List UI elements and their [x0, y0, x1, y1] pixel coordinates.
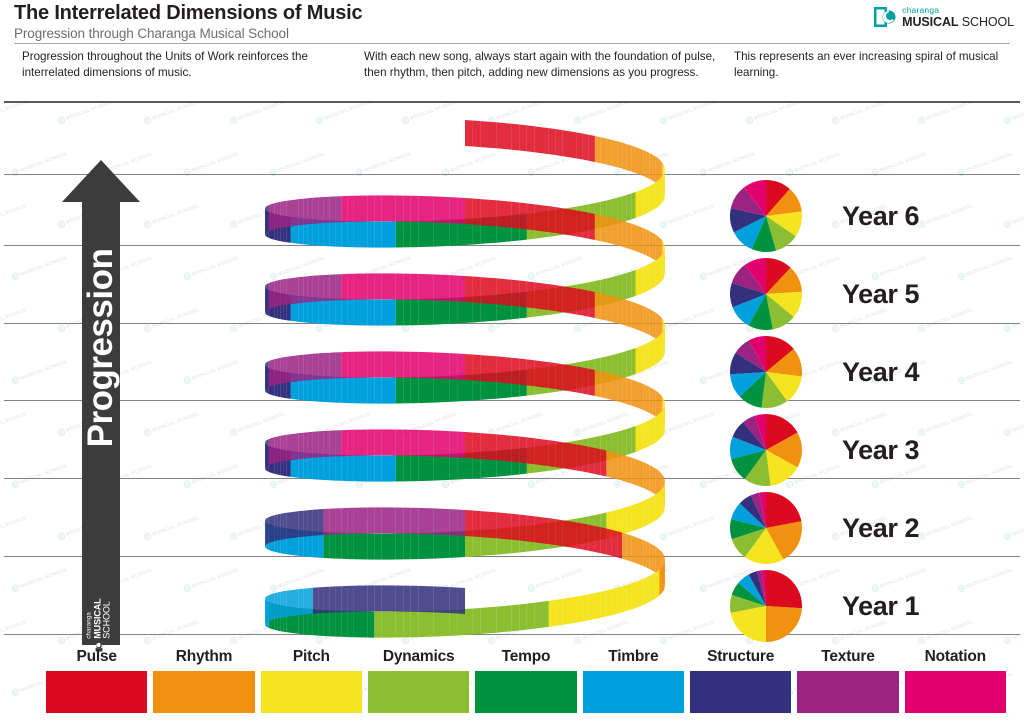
legend-item-dynamics[interactable]: Dynamics — [368, 648, 469, 713]
legend-item-timbre[interactable]: Timbre — [583, 648, 684, 713]
year-row: Year 4 — [730, 336, 919, 408]
legend-swatch — [690, 671, 791, 713]
legend-swatch — [583, 671, 684, 713]
year-row: Year 1 — [730, 570, 919, 642]
year-label: Year 6 — [842, 201, 919, 232]
logo-charanga-text: charanga — [902, 6, 1014, 15]
charanga-c-icon — [872, 6, 898, 28]
legend-item-pulse[interactable]: Pulse — [46, 648, 147, 713]
year-label: Year 5 — [842, 279, 919, 310]
year-pie-chart — [730, 258, 802, 330]
year-row: Year 5 — [730, 258, 919, 330]
year-row: Year 3 — [730, 414, 919, 486]
legend-item-tempo[interactable]: Tempo — [475, 648, 576, 713]
legend-swatch — [153, 671, 254, 713]
legend-label: Structure — [707, 648, 774, 666]
legend-label: Rhythm — [176, 648, 233, 666]
year-label: Year 3 — [842, 435, 919, 466]
progression-axis: Progression charanga MUSICAL SCHOOL — [62, 160, 140, 645]
year-row: Year 2 — [730, 492, 919, 564]
legend-swatch — [368, 671, 469, 713]
charanga-logo: charanga MUSICAL SCHOOL — [872, 6, 1014, 28]
year-pie-chart — [730, 492, 802, 564]
legend-swatch — [261, 671, 362, 713]
legend-item-pitch[interactable]: Pitch — [261, 648, 362, 713]
legend-item-structure[interactable]: Structure — [690, 648, 791, 713]
legend-swatch — [475, 671, 576, 713]
legend-label: Pulse — [76, 648, 116, 666]
legend-label: Pitch — [293, 648, 330, 666]
year-label: Year 1 — [842, 591, 919, 622]
year-pie-chart — [730, 414, 802, 486]
year-label: Year 4 — [842, 357, 919, 388]
legend-item-notation[interactable]: Notation — [905, 648, 1006, 713]
page-title: The Interrelated Dimensions of Music — [14, 2, 362, 25]
logo-school-text: SCHOOL — [962, 15, 1014, 29]
legend-label: Timbre — [608, 648, 658, 666]
legend-swatch — [905, 671, 1006, 713]
intro-text-3: This represents an ever increasing spira… — [734, 49, 1024, 80]
legend-label: Notation — [925, 648, 986, 666]
dimensions-legend: PulseRhythmPitchDynamicsTempoTimbreStruc… — [46, 648, 1006, 713]
year-pie-chart — [730, 336, 802, 408]
legend-label: Dynamics — [383, 648, 455, 666]
legend-item-rhythm[interactable]: Rhythm — [153, 648, 254, 713]
header-divider-thick — [4, 101, 1020, 103]
year-pie-chart — [730, 180, 802, 252]
progression-label: Progression — [81, 183, 121, 513]
legend-swatch — [46, 671, 147, 713]
arrow-logo-school-text: SCHOOL — [102, 601, 112, 638]
year-label: Year 2 — [842, 513, 919, 544]
legend-item-texture[interactable]: Texture — [797, 648, 898, 713]
legend-label: Tempo — [502, 648, 551, 666]
intro-text-2: With each new song, always start again w… — [364, 49, 719, 80]
year-row: Year 6 — [730, 180, 919, 252]
page-subtitle: Progression through Charanga Musical Sch… — [14, 26, 289, 41]
logo-musical-text: MUSICAL — [902, 15, 958, 29]
year-pie-chart — [730, 570, 802, 642]
intro-text-1: Progression throughout the Units of Work… — [22, 49, 352, 80]
legend-swatch — [797, 671, 898, 713]
arrow-charanga-logo: charanga MUSICAL SCHOOL — [87, 592, 112, 654]
header-divider-thin — [14, 43, 1010, 44]
legend-label: Texture — [821, 648, 874, 666]
